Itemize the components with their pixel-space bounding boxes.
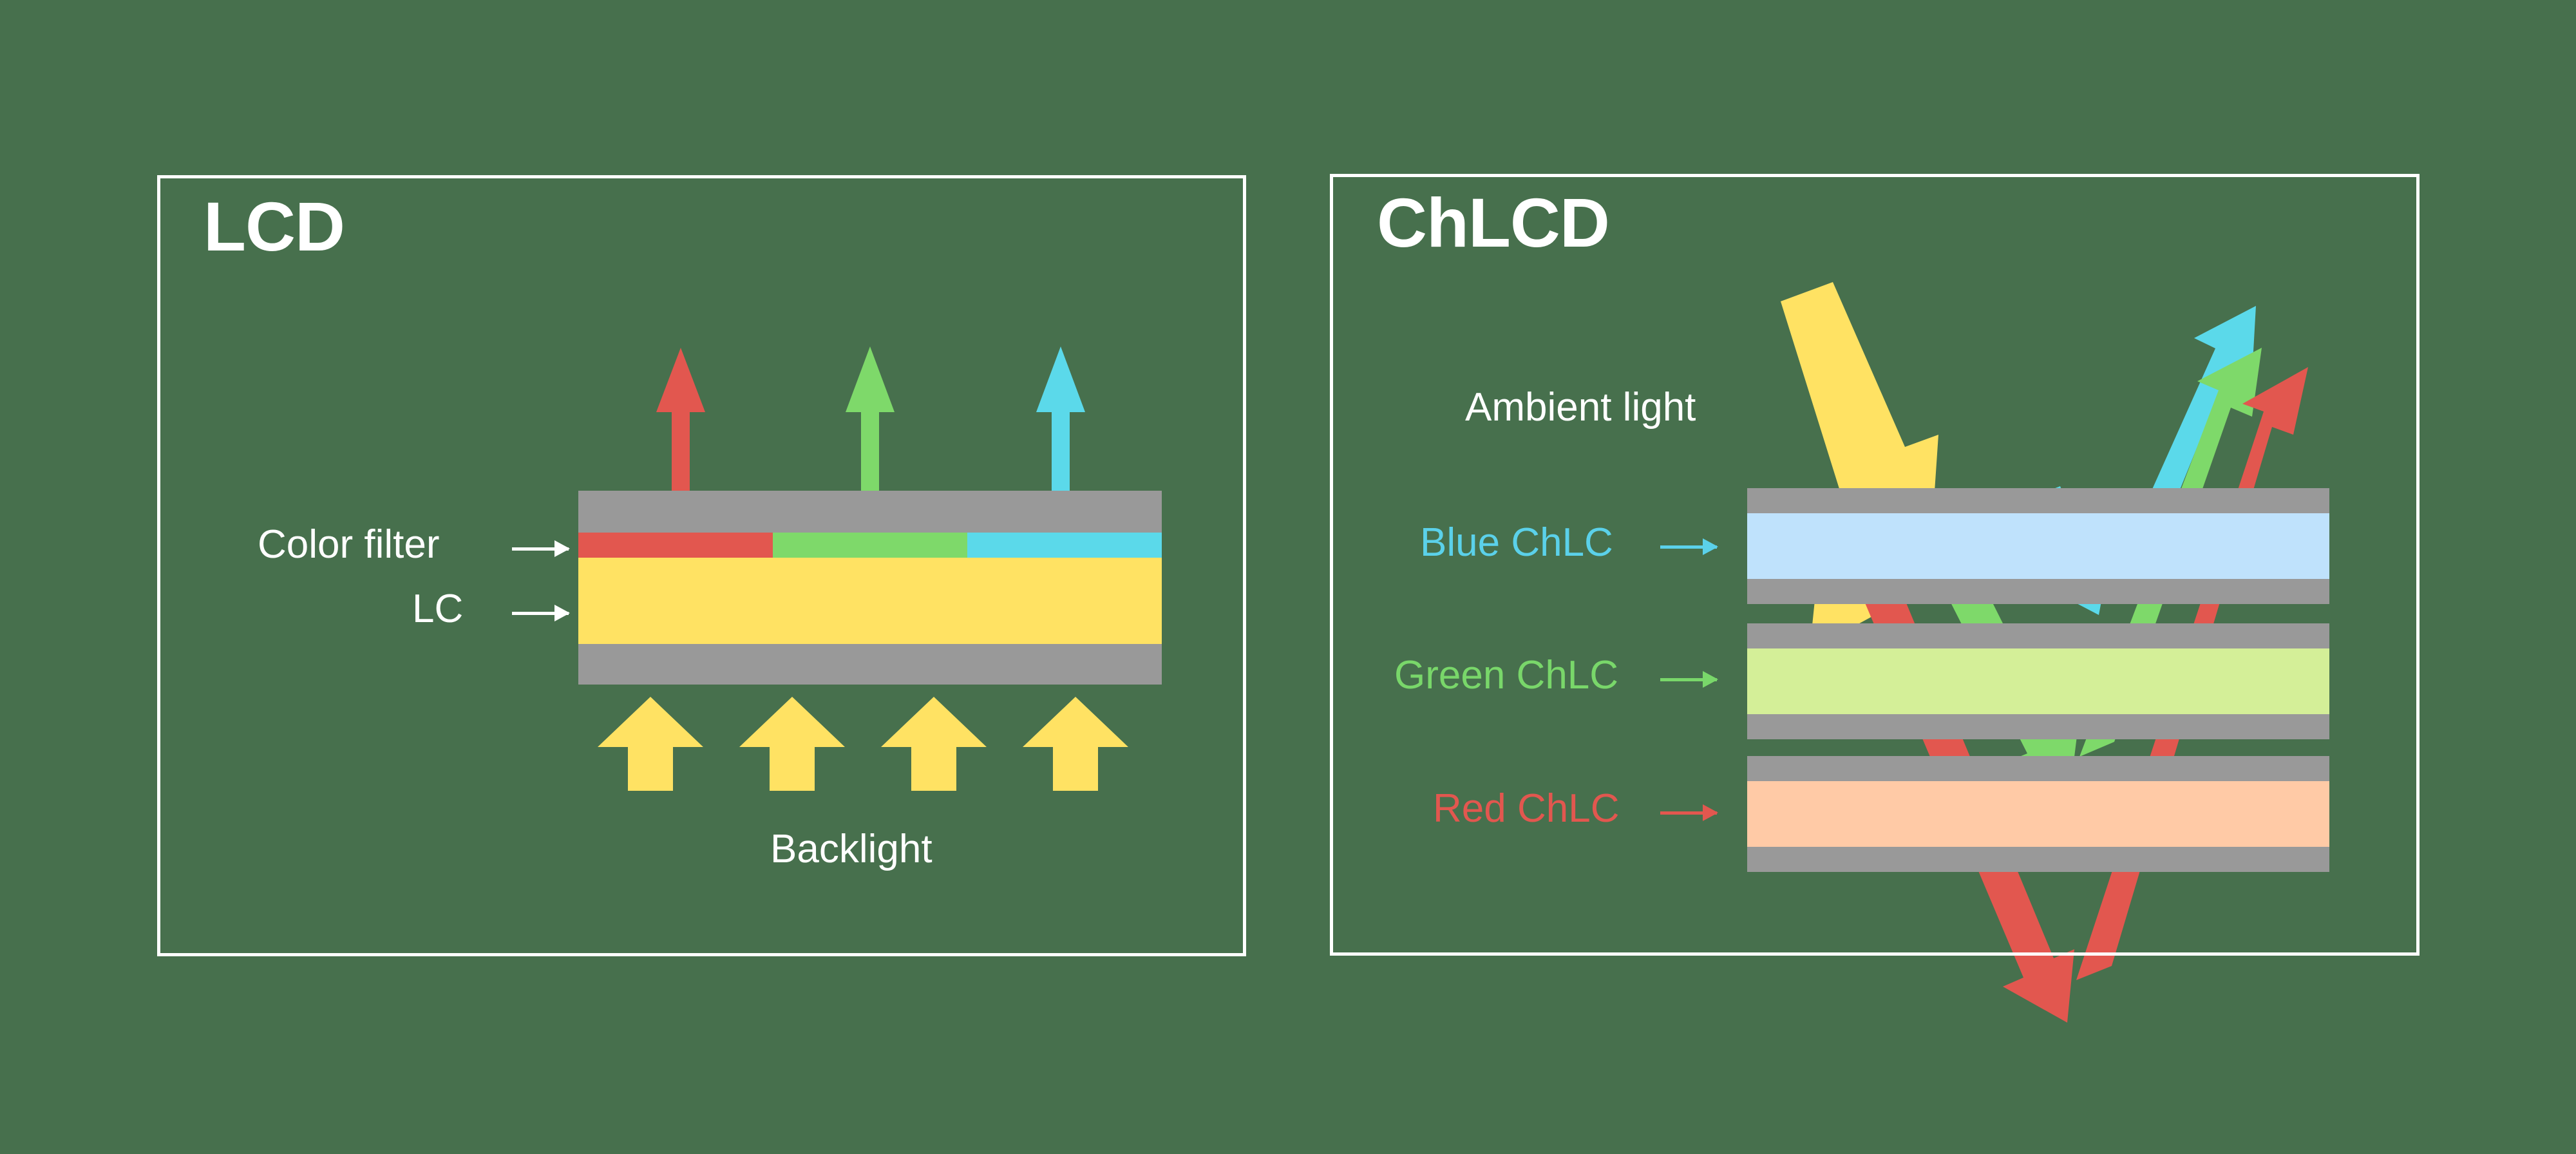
blue-chlc-cell — [1747, 488, 2329, 604]
blue-cell-electrode-top — [1747, 488, 2329, 513]
lcd-panel-title: LCD — [204, 192, 345, 261]
color-filter-label: Color filter — [258, 525, 440, 565]
green-chlc-label: Green ChLC — [1394, 656, 1618, 695]
red-chlc-layer — [1747, 781, 2329, 847]
blue-cell-electrode-bottom — [1747, 579, 2329, 604]
arrow-head-icon — [1703, 538, 1718, 555]
arrow-head-icon — [554, 540, 570, 557]
red-chlc-leader-arrow — [1660, 810, 1717, 815]
blue-chlc-layer — [1747, 513, 2329, 579]
lcd-color-filter-layer — [578, 533, 1162, 558]
green-cell-electrode-top — [1747, 623, 2329, 648]
ambient-light-label: Ambient light — [1465, 388, 1696, 428]
color-filter-green-segment — [773, 533, 967, 558]
green-chlc-layer — [1747, 648, 2329, 714]
lcd-glass-top-layer — [578, 491, 1162, 533]
red-cell-electrode-top — [1747, 756, 2329, 781]
lc-label: LC — [412, 589, 463, 629]
arrow-head-icon — [1703, 671, 1718, 688]
red-chlc-label: Red ChLC — [1433, 789, 1619, 829]
arrow-head-icon — [1703, 804, 1718, 821]
chlcd-panel-title: ChLCD — [1377, 188, 1609, 258]
diagram-stage: LCD — [0, 0, 2576, 1154]
red-chlc-cell — [1747, 756, 2329, 872]
green-chlc-cell — [1747, 623, 2329, 739]
red-cell-electrode-bottom — [1747, 847, 2329, 872]
lcd-glass-bottom-layer — [578, 644, 1162, 685]
backlight-label: Backlight — [770, 829, 933, 869]
green-chlc-leader-arrow — [1660, 677, 1717, 682]
color-filter-leader-arrow — [512, 546, 569, 551]
green-cell-electrode-bottom — [1747, 714, 2329, 739]
blue-chlc-leader-arrow — [1660, 544, 1717, 549]
lc-leader-arrow — [512, 610, 569, 616]
lcd-liquid-crystal-layer — [578, 558, 1162, 644]
chlcd-layer-stack — [1747, 488, 2329, 872]
lcd-layer-stack — [578, 491, 1162, 685]
color-filter-blue-segment — [967, 533, 1162, 558]
color-filter-red-segment — [578, 533, 773, 558]
blue-chlc-label: Blue ChLC — [1420, 523, 1613, 563]
arrow-head-icon — [554, 605, 570, 621]
